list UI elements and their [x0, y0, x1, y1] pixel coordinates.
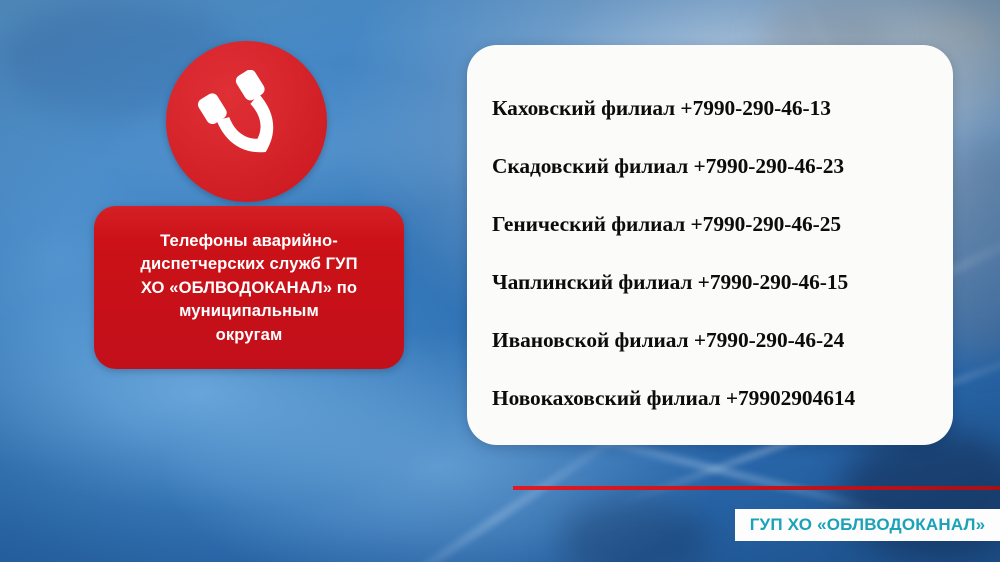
footer-banner: ГУП ХО «ОБЛВОДОКАНАЛ» — [735, 509, 1000, 541]
phone-icon-circle — [166, 41, 327, 202]
contacts-card: Каховский филиал +7990-290-46-13 Скадовс… — [467, 45, 953, 445]
red-divider-line — [513, 486, 1000, 490]
organization-name: ГУП ХО «ОБЛВОДОКАНАЛ» — [750, 515, 986, 535]
caption-badge: Телефоны аварийно- диспетчерских служб Г… — [94, 206, 404, 369]
contact-row: Ивановской филиал +7990-290-46-24 — [492, 311, 953, 369]
background-blur-shape — [560, 500, 710, 562]
poster-canvas: Телефоны аварийно- диспетчерских служб Г… — [0, 0, 1000, 562]
caption-line: муниципальным — [179, 301, 319, 320]
contact-row: Скадовский филиал +7990-290-46-23 — [492, 137, 953, 195]
contact-row: Чаплинский филиал +7990-290-46-15 — [492, 253, 953, 311]
telephone-handset-icon — [195, 70, 299, 174]
caption-line: ХО «ОБЛВОДОКАНАЛ» по — [141, 278, 357, 297]
caption-badge-text: Телефоны аварийно- диспетчерских служб Г… — [130, 229, 367, 347]
contacts-list: Каховский филиал +7990-290-46-13 Скадовс… — [467, 79, 953, 427]
caption-line: диспетчерских служб ГУП — [140, 254, 357, 273]
contact-row: Новокаховский филиал +79902904614 — [492, 369, 953, 427]
contact-row: Каховский филиал +7990-290-46-13 — [492, 79, 953, 137]
caption-line: округам — [216, 325, 283, 344]
contact-row: Генический филиал +7990-290-46-25 — [492, 195, 953, 253]
caption-line: Телефоны аварийно- — [160, 231, 338, 250]
